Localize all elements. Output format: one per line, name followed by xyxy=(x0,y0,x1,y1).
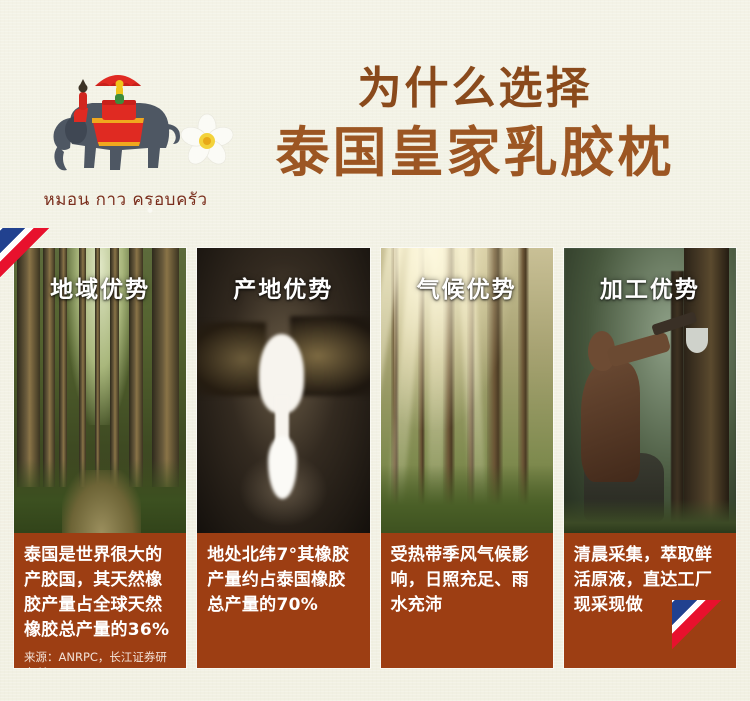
advantage-panel-climate[interactable]: 气候优势 受热带季风气候影响，日照充足、雨水充沛 xyxy=(381,248,553,668)
panel-caption-source: 来源：ANRPC，长江证券研究所 xyxy=(24,649,176,668)
green-forest-path-photo: 地域优势 xyxy=(14,248,186,533)
panel-caption-text: 受热带季风气候影响，日照充足、雨水充沛 xyxy=(391,543,543,618)
panel-caption: 泰国是世界很大的产胶国，其天然橡胶产量占全球天然橡胶总产量的36% 来源：ANR… xyxy=(14,533,186,668)
panel-caption: 受热带季风气候影响，日照充足、雨水充沛 xyxy=(381,533,553,668)
panel-title: 地域优势 xyxy=(14,270,186,304)
sunbeam-forest-photo: 气候优势 xyxy=(381,248,553,533)
panel-caption: 清晨采集，萃取鲜活原液，直达工厂现采现做 xyxy=(564,533,736,668)
panel-title: 产地优势 xyxy=(197,270,369,304)
panel-caption-text: 泰国是世界很大的产胶国，其天然橡胶产量占全球天然橡胶总产量的36% xyxy=(24,543,176,643)
rubber-tapper-worker-photo: 加工优势 xyxy=(564,248,736,533)
advantage-panel-processing[interactable]: 加工优势 清晨采集，萃取鲜活原液，直达工厂现采现做 xyxy=(564,248,736,668)
brand-logo: หมอน กาว ครอบครัว xyxy=(18,50,233,225)
latex-sap-dripping-photo: 产地优势 xyxy=(197,248,369,533)
page-title: 为什么选择 泰国皇家乳胶枕 xyxy=(215,62,735,186)
panel-caption: 地处北纬7°其橡胶产量约占泰国橡胶总产量的70% xyxy=(197,533,369,668)
title-line-2: 泰国皇家乳胶枕 xyxy=(215,120,735,186)
advantage-panels: 地域优势 泰国是世界很大的产胶国，其天然橡胶产量占全球天然橡胶总产量的36% 来… xyxy=(14,248,736,668)
brand-thai-text: หมอน กาว ครอบครัว xyxy=(18,186,233,213)
panel-title: 加工优势 xyxy=(564,270,736,304)
thai-elephant-with-riders-icon xyxy=(40,56,190,186)
promo-page: หมอน กาว ครอบครัว 为什么选择 泰国皇家乳胶枕 xyxy=(0,0,750,701)
page-header: หมอน กาว ครอบครัว 为什么选择 泰国皇家乳胶枕 xyxy=(0,0,750,232)
title-line-1: 为什么选择 xyxy=(215,62,735,116)
panel-caption-text: 地处北纬7°其橡胶产量约占泰国橡胶总产量的70% xyxy=(207,543,359,618)
advantage-panel-region[interactable]: 地域优势 泰国是世界很大的产胶国，其天然橡胶产量占全球天然橡胶总产量的36% 来… xyxy=(14,248,186,668)
panel-caption-text: 清晨采集，萃取鲜活原液，直达工厂现采现做 xyxy=(574,543,726,618)
advantage-panel-origin[interactable]: 产地优势 地处北纬7°其橡胶产量约占泰国橡胶总产量的70% xyxy=(197,248,369,668)
panel-title: 气候优势 xyxy=(381,270,553,304)
